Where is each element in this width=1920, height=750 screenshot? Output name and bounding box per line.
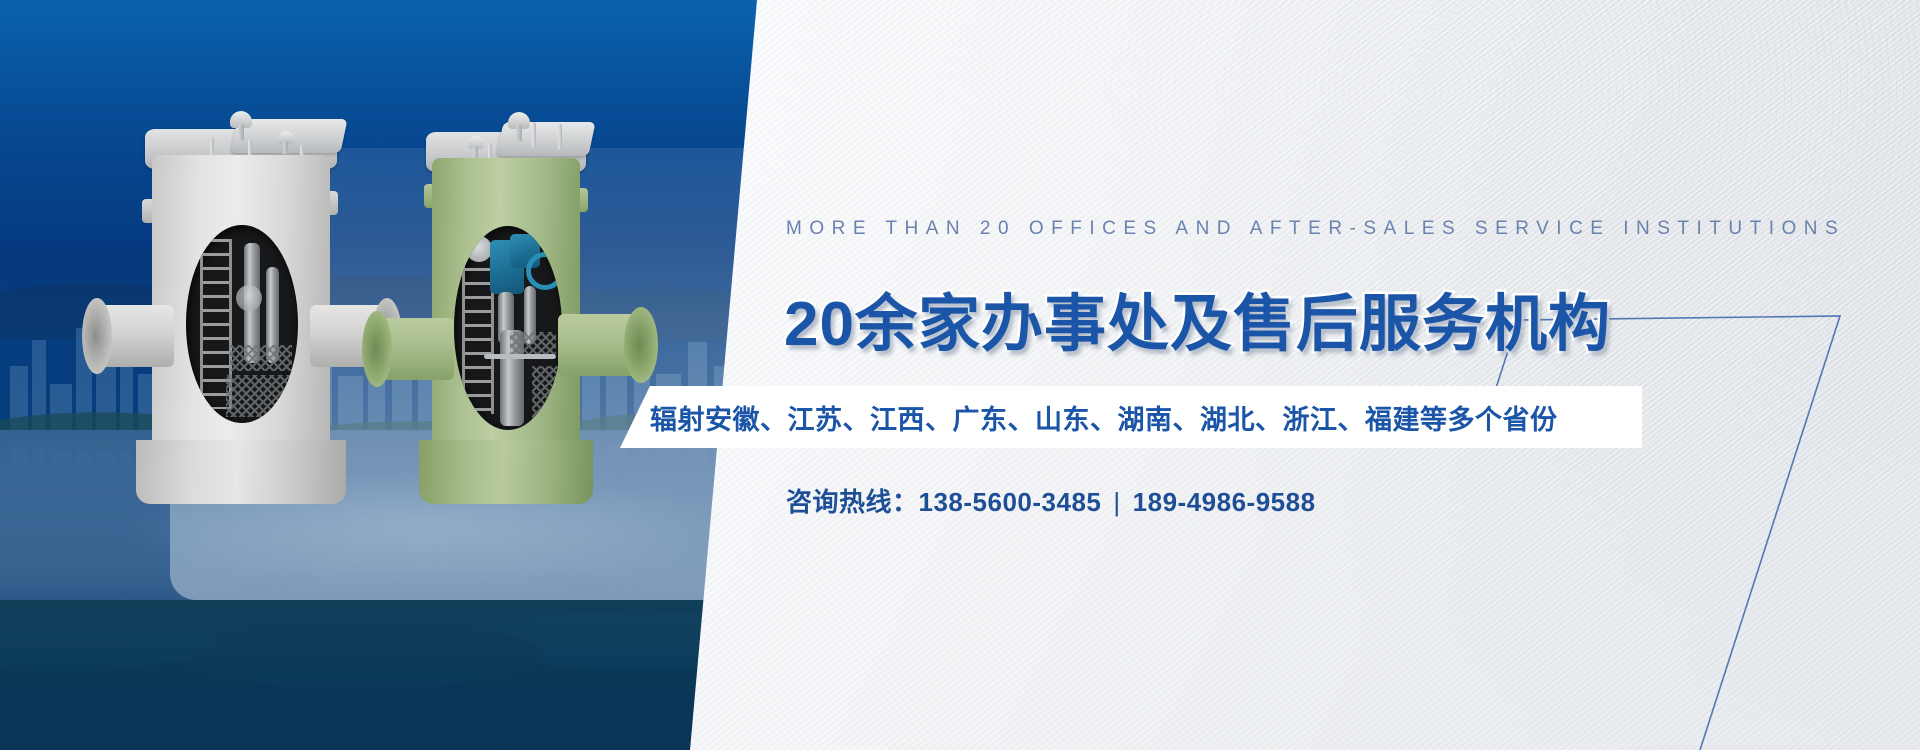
green-unit-pin-1 — [532, 122, 536, 148]
green-unit-vent-cap — [508, 112, 530, 129]
banner-eyebrow-text: MORE THAN 20 OFFICES AND AFTER-SALES SER… — [786, 218, 1845, 240]
green-unit-pin-2 — [558, 124, 562, 150]
green-unit-base-skirt — [419, 440, 594, 504]
green-unit-cutaway-window — [454, 226, 562, 430]
subtitle-text: 辐射安徽、江苏、江西、广东、山东、湖南、湖北、浙江、福建等多个省份 — [650, 386, 1650, 448]
product-grey-pump-station — [152, 155, 330, 470]
hotline-label: 咨询热线： — [786, 487, 919, 517]
banner-headline: 20余家办事处及售后服务机构 — [784, 290, 1611, 359]
grey-unit-base-skirt — [136, 440, 346, 504]
grey-unit-interior — [186, 225, 298, 423]
green-unit-outlet-pipe — [558, 314, 642, 376]
product-green-pump-station — [432, 158, 580, 470]
grey-unit-vent-cap-2 — [278, 131, 294, 144]
promo-banner: MORE THAN 20 OFFICES AND AFTER-SALES SER… — [0, 0, 1920, 750]
hotline-separator: | — [1101, 487, 1132, 517]
hotline-number-1[interactable]: 138-5600-3485 — [919, 487, 1102, 517]
grey-unit-cutaway-window — [186, 225, 298, 423]
grey-unit-vent-cap — [230, 111, 252, 128]
grey-unit-inlet-pipe — [96, 305, 174, 367]
green-unit-interior — [454, 226, 562, 430]
hotline-number-2[interactable]: 189-4986-9588 — [1133, 487, 1316, 517]
hotline-row: 咨询热线：138-5600-3485|189-4986-9588 — [786, 482, 1316, 519]
green-unit-vent-cap-2 — [468, 136, 484, 149]
green-unit-inlet-pipe — [376, 318, 454, 380]
